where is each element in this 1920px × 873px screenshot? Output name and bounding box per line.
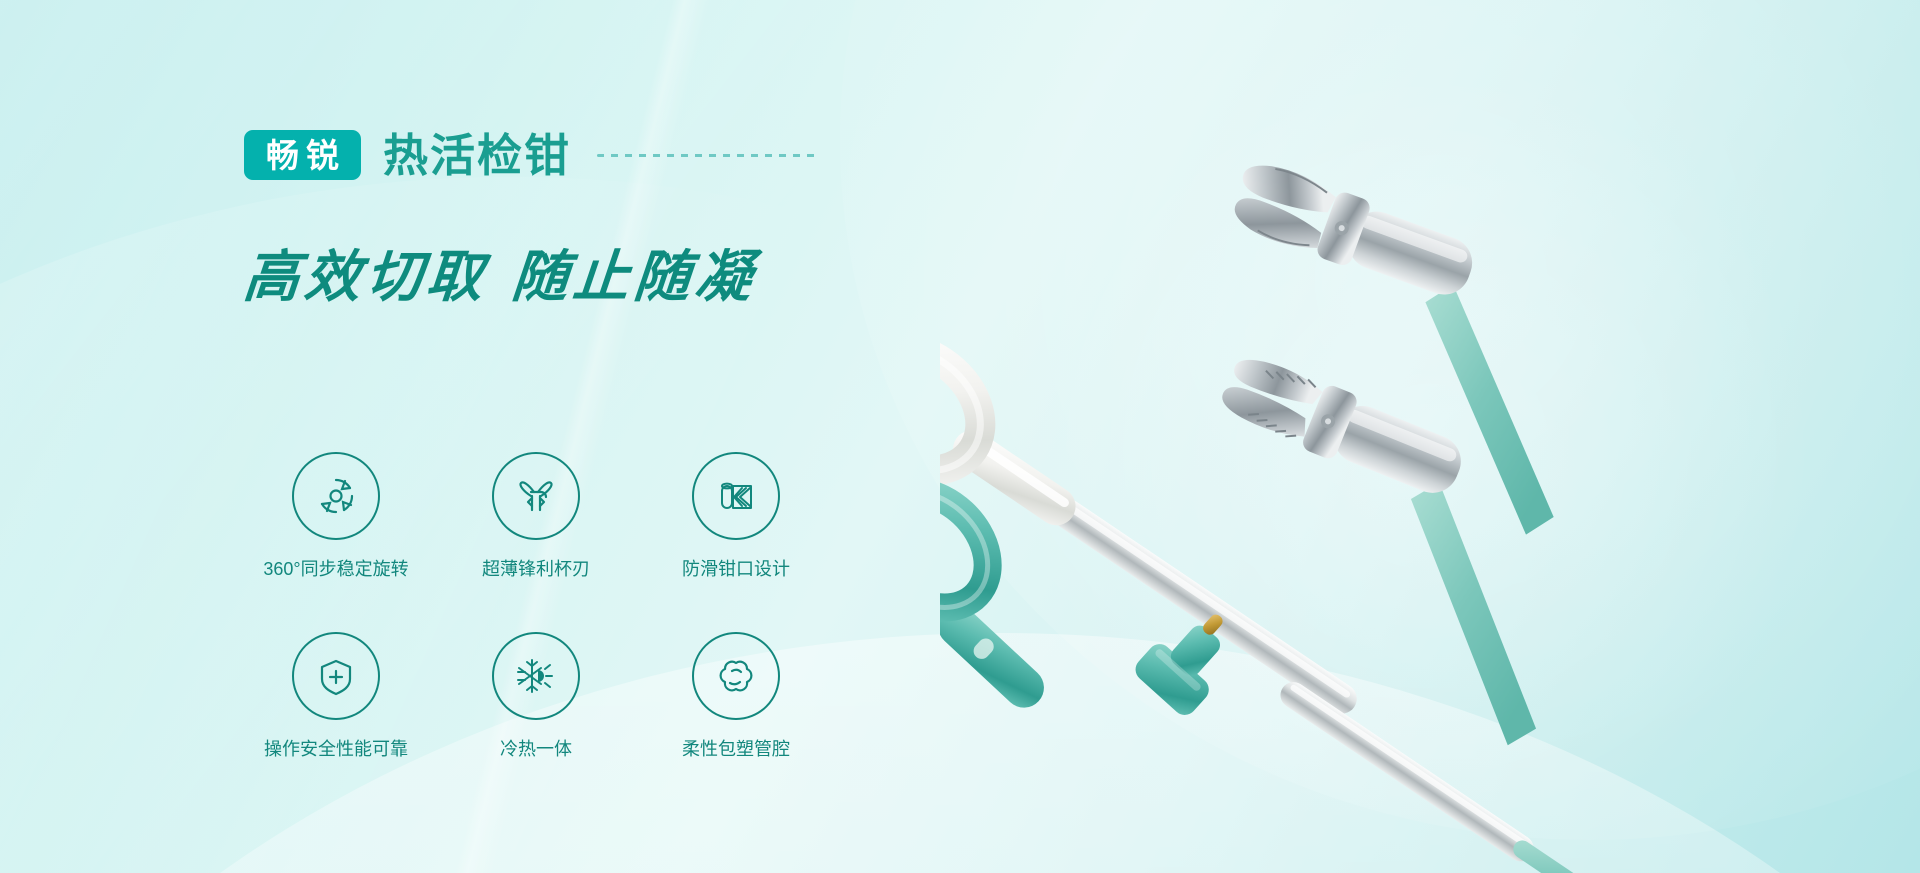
brand-badge: 畅锐 bbox=[244, 130, 361, 180]
feature-item: 360°同步稳定旋转 bbox=[236, 452, 436, 578]
product-image bbox=[940, 0, 1920, 873]
page-title: 热活检钳 bbox=[383, 133, 571, 178]
background-glow-right bbox=[1000, 40, 1860, 860]
teal-finger-ring-handle bbox=[940, 458, 1097, 778]
distal-shaft bbox=[1275, 677, 1646, 873]
feature-item: 操作安全性能可靠 bbox=[236, 632, 436, 758]
forceps-head-serrated bbox=[1137, 321, 1637, 753]
feature-label: 柔性包塑管腔 bbox=[682, 740, 790, 758]
tagline: 高效切取 随止随凝 bbox=[240, 232, 867, 313]
forceps-handle-assembly bbox=[940, 321, 1684, 873]
feature-grid: 360°同步稳定旋转 超薄锋利杯刃 bbox=[236, 452, 836, 758]
feature-label: 超薄锋利杯刃 bbox=[482, 560, 590, 578]
feature-item: 冷热一体 bbox=[436, 632, 636, 758]
hot-cold-icon bbox=[492, 632, 580, 720]
product-banner: 畅锐 热活检钳 高效切取 随止随凝 360°同步稳定旋转 bbox=[0, 0, 1920, 873]
feature-item: 防滑钳口设计 bbox=[636, 452, 836, 578]
shield-plus-icon bbox=[292, 632, 380, 720]
gold-electrode-pin bbox=[1201, 612, 1225, 637]
anti-slip-grip-icon bbox=[692, 452, 780, 540]
sharp-cup-jaws-icon bbox=[492, 452, 580, 540]
metal-shaft bbox=[1047, 493, 1362, 719]
feature-item: 柔性包塑管腔 bbox=[636, 632, 836, 758]
teal-connector bbox=[1131, 596, 1253, 720]
rotation-360-icon bbox=[292, 452, 380, 540]
background-sweep-top-right bbox=[840, 0, 1920, 840]
feature-label: 冷热一体 bbox=[500, 740, 572, 758]
feature-label: 防滑钳口设计 bbox=[682, 560, 790, 578]
title-row: 畅锐 热活检钳 bbox=[244, 126, 864, 184]
headline-block: 畅锐 热活检钳 高效切取 随止随凝 bbox=[244, 126, 864, 313]
feature-label: 360°同步稳定旋转 bbox=[263, 560, 408, 578]
feature-item: 超薄锋利杯刃 bbox=[436, 452, 636, 578]
flexible-lumen-icon bbox=[692, 632, 780, 720]
dotted-divider bbox=[597, 154, 819, 157]
white-thumb-ring-handle bbox=[940, 321, 1104, 564]
forceps-head-open bbox=[1156, 121, 1646, 541]
feature-label: 操作安全性能可靠 bbox=[264, 740, 408, 758]
